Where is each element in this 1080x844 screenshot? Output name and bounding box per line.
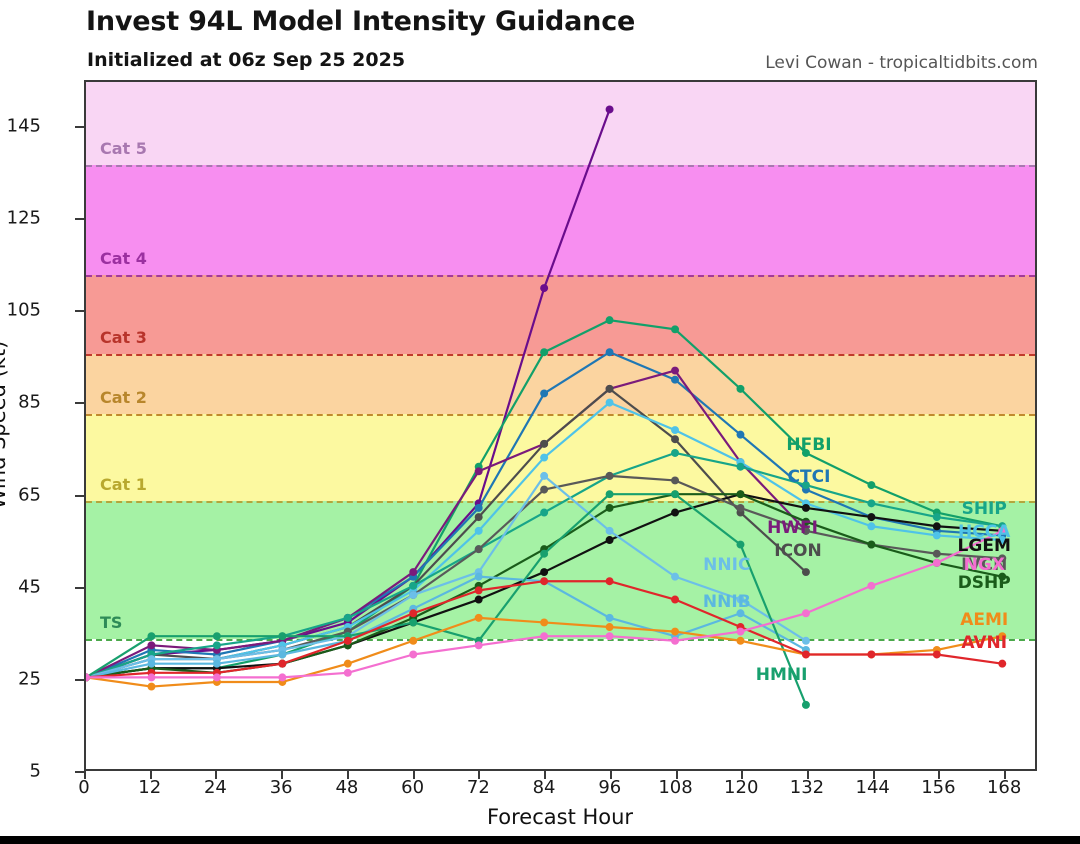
series-label-HFBI: HFBI bbox=[786, 435, 831, 455]
data-point bbox=[475, 504, 483, 512]
data-point bbox=[540, 568, 548, 576]
data-point bbox=[736, 637, 744, 645]
x-tick-mark bbox=[215, 771, 217, 779]
x-tick-label: 0 bbox=[78, 777, 89, 798]
data-point bbox=[540, 284, 548, 292]
data-point bbox=[867, 651, 875, 659]
data-point bbox=[475, 527, 483, 535]
data-point bbox=[933, 513, 941, 521]
y-tick-label: 65 bbox=[0, 484, 41, 505]
series-label-HWFI: HWFI bbox=[767, 518, 818, 538]
data-point bbox=[475, 596, 483, 604]
data-point bbox=[736, 463, 744, 471]
x-tick-mark bbox=[938, 771, 940, 779]
x-tick-mark bbox=[347, 771, 349, 779]
data-point bbox=[475, 614, 483, 622]
y-tick-label: 25 bbox=[0, 668, 41, 689]
x-tick-label: 108 bbox=[658, 777, 692, 798]
data-point bbox=[409, 637, 417, 645]
data-point bbox=[540, 550, 548, 558]
series-NNIB bbox=[86, 573, 810, 682]
data-point bbox=[344, 660, 352, 668]
data-point bbox=[671, 573, 679, 581]
data-point bbox=[540, 348, 548, 356]
series-lines bbox=[86, 82, 1035, 769]
data-point bbox=[606, 632, 614, 640]
chart-credit: Levi Cowan - tropicaltidbits.com bbox=[765, 53, 1038, 73]
y-tick-label: 125 bbox=[0, 208, 41, 229]
x-tick-label: 60 bbox=[401, 777, 424, 798]
data-point bbox=[736, 431, 744, 439]
data-point bbox=[278, 651, 286, 659]
y-tick-mark bbox=[75, 310, 84, 312]
data-point bbox=[606, 527, 614, 535]
y-tick-label: 45 bbox=[0, 576, 41, 597]
data-point bbox=[671, 367, 679, 375]
y-tick-mark bbox=[75, 402, 84, 404]
series-label-NNIB: NNIB bbox=[703, 592, 751, 612]
data-point bbox=[213, 632, 221, 640]
data-point bbox=[933, 522, 941, 530]
data-point bbox=[606, 577, 614, 585]
data-point bbox=[540, 577, 548, 585]
data-point bbox=[147, 660, 155, 668]
data-point bbox=[606, 316, 614, 324]
x-tick-mark bbox=[150, 771, 152, 779]
series-label-NGX: NGX bbox=[964, 555, 1005, 575]
data-point bbox=[867, 522, 875, 530]
x-tick-mark bbox=[610, 771, 612, 779]
x-tick-mark bbox=[413, 771, 415, 779]
data-point bbox=[540, 486, 548, 494]
data-point bbox=[606, 472, 614, 480]
y-tick-mark bbox=[75, 771, 84, 773]
data-point bbox=[409, 609, 417, 617]
x-tick-label: 12 bbox=[138, 777, 161, 798]
x-tick-label: 84 bbox=[533, 777, 556, 798]
bottom-bar bbox=[0, 836, 1080, 844]
x-tick-mark bbox=[676, 771, 678, 779]
data-point bbox=[147, 632, 155, 640]
data-point bbox=[475, 641, 483, 649]
data-point bbox=[540, 454, 548, 462]
data-point bbox=[671, 637, 679, 645]
data-point bbox=[606, 536, 614, 544]
y-tick-mark bbox=[75, 679, 84, 681]
series-label-LGEM: LGEM bbox=[958, 536, 1011, 556]
data-point bbox=[540, 509, 548, 517]
data-point bbox=[213, 673, 221, 681]
data-point bbox=[736, 385, 744, 393]
data-point bbox=[344, 614, 352, 622]
data-point bbox=[671, 476, 679, 484]
x-tick-mark bbox=[741, 771, 743, 779]
data-point bbox=[475, 545, 483, 553]
data-point bbox=[671, 376, 679, 384]
data-point bbox=[540, 389, 548, 397]
data-point bbox=[736, 628, 744, 636]
data-point bbox=[606, 614, 614, 622]
data-point bbox=[671, 596, 679, 604]
x-tick-label: 132 bbox=[790, 777, 824, 798]
y-tick-mark bbox=[75, 587, 84, 589]
data-point bbox=[736, 504, 744, 512]
data-point bbox=[475, 467, 483, 475]
data-point bbox=[671, 509, 679, 517]
chart-root: Invest 94L Model Intensity Guidance Init… bbox=[0, 0, 1080, 844]
x-tick-label: 156 bbox=[921, 777, 955, 798]
x-tick-label: 72 bbox=[467, 777, 490, 798]
data-point bbox=[933, 531, 941, 539]
data-point bbox=[867, 541, 875, 549]
data-point bbox=[475, 513, 483, 521]
x-tick-mark bbox=[1004, 771, 1006, 779]
series-HFAI bbox=[86, 106, 614, 682]
data-point bbox=[802, 504, 810, 512]
data-point bbox=[540, 440, 548, 448]
series-HFBI bbox=[86, 316, 1006, 681]
data-point bbox=[475, 573, 483, 581]
page-title: Invest 94L Model Intensity Guidance bbox=[86, 6, 635, 37]
y-tick-mark bbox=[75, 495, 84, 497]
data-point bbox=[933, 559, 941, 567]
data-point bbox=[671, 426, 679, 434]
data-point bbox=[802, 568, 810, 576]
data-point bbox=[802, 637, 810, 645]
x-tick-label: 168 bbox=[987, 777, 1021, 798]
plot-area: TSCat 1Cat 2Cat 3Cat 4Cat 5 HFAIHFBICTCI… bbox=[84, 80, 1037, 771]
data-point bbox=[147, 641, 155, 649]
x-tick-label: 48 bbox=[335, 777, 358, 798]
data-point bbox=[213, 641, 221, 649]
data-point bbox=[671, 490, 679, 498]
data-point bbox=[671, 449, 679, 457]
data-point bbox=[409, 651, 417, 659]
series-label-DSHP: DSHP bbox=[958, 573, 1011, 593]
data-point bbox=[998, 660, 1006, 668]
x-tick-mark bbox=[544, 771, 546, 779]
x-tick-label: 144 bbox=[856, 777, 890, 798]
data-point bbox=[606, 490, 614, 498]
data-point bbox=[802, 701, 810, 709]
x-tick-mark bbox=[873, 771, 875, 779]
y-tick-label: 5 bbox=[0, 761, 41, 782]
series-label-SHIP: SHIP bbox=[962, 499, 1007, 519]
x-tick-label: 120 bbox=[724, 777, 758, 798]
chart-subtitle: Initialized at 06z Sep 25 2025 bbox=[87, 49, 405, 71]
series-label-ICON: ICON bbox=[774, 541, 821, 561]
y-tick-label: 145 bbox=[0, 116, 41, 137]
data-point bbox=[606, 623, 614, 631]
x-tick-mark bbox=[281, 771, 283, 779]
data-point bbox=[606, 348, 614, 356]
data-point bbox=[671, 628, 679, 636]
data-point bbox=[671, 325, 679, 333]
series-label-NNIC: NNIC bbox=[703, 555, 750, 575]
x-tick-mark bbox=[84, 771, 86, 779]
data-point bbox=[606, 399, 614, 407]
series-label-CTCI: CTCI bbox=[788, 467, 831, 487]
data-point bbox=[213, 660, 221, 668]
data-point bbox=[409, 582, 417, 590]
data-point bbox=[278, 673, 286, 681]
y-tick-mark bbox=[75, 218, 84, 220]
data-point bbox=[278, 660, 286, 668]
data-point bbox=[736, 541, 744, 549]
data-point bbox=[147, 673, 155, 681]
data-point bbox=[278, 632, 286, 640]
data-point bbox=[344, 669, 352, 677]
data-point bbox=[540, 618, 548, 626]
data-point bbox=[344, 637, 352, 645]
data-point bbox=[867, 582, 875, 590]
x-tick-mark bbox=[807, 771, 809, 779]
y-tick-mark bbox=[75, 126, 84, 128]
x-tick-label: 36 bbox=[270, 777, 293, 798]
data-point bbox=[867, 499, 875, 507]
data-point bbox=[802, 651, 810, 659]
y-tick-label: 105 bbox=[0, 300, 41, 321]
data-point bbox=[606, 504, 614, 512]
x-axis-label: Forecast Hour bbox=[487, 805, 633, 829]
data-point bbox=[147, 683, 155, 691]
data-point bbox=[475, 586, 483, 594]
data-point bbox=[867, 481, 875, 489]
data-point bbox=[540, 632, 548, 640]
data-point bbox=[606, 385, 614, 393]
x-tick-mark bbox=[478, 771, 480, 779]
data-point bbox=[867, 513, 875, 521]
data-point bbox=[802, 609, 810, 617]
y-tick-label: 85 bbox=[0, 392, 41, 413]
data-point bbox=[540, 472, 548, 480]
data-point bbox=[933, 550, 941, 558]
data-point bbox=[606, 106, 614, 114]
data-point bbox=[409, 591, 417, 599]
series-label-HMNI: HMNI bbox=[756, 665, 808, 685]
data-point bbox=[671, 435, 679, 443]
data-point bbox=[933, 651, 941, 659]
series-label-AVNI: AVNI bbox=[961, 633, 1007, 653]
x-tick-label: 96 bbox=[598, 777, 621, 798]
x-tick-label: 24 bbox=[204, 777, 227, 798]
data-point bbox=[736, 490, 744, 498]
series-label-AEMI: AEMI bbox=[960, 610, 1008, 630]
data-point bbox=[409, 568, 417, 576]
data-point bbox=[409, 618, 417, 626]
